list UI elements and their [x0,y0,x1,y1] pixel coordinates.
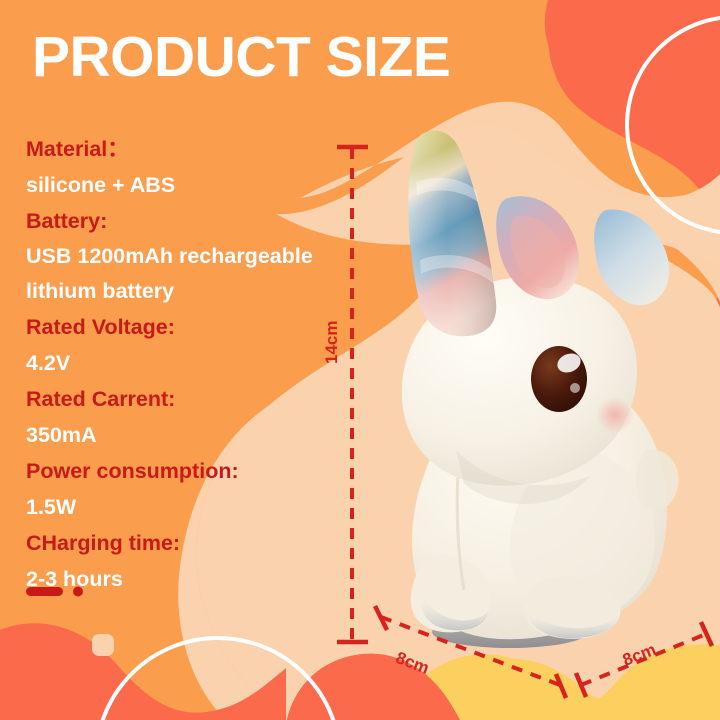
dimension-label-height: 14cm [322,321,342,364]
spec-value-battery-line1: USB 1200mAh rechargeable [26,239,356,274]
decor-dot [73,587,83,597]
product-horn-shading [408,131,496,337]
decorative-dash-dot [26,583,96,599]
spec-value-material: silicone + ABS [26,167,356,203]
spec-label-current: Rated Carrent: [26,381,356,417]
spec-value-voltage: 4.2V [26,345,356,381]
spec-value-battery-line2: lithium battery [26,274,356,309]
product-eye-highlight-small [570,383,580,393]
spec-label-material: Material： [26,131,356,167]
spec-value-power: 1.5W [26,489,356,525]
spec-label-charging: CHarging time: [26,525,356,561]
spec-label-power: Power consumption: [26,453,356,489]
rounded-square-decor-bottom [92,634,114,656]
product-ear-right [594,209,669,305]
spec-value-current: 350mA [26,417,356,453]
poster-canvas: PRODUCT SIZE Material： silicone + ABS Ba… [0,0,720,720]
decor-dash [26,587,63,596]
product-eye [531,346,587,412]
page-title: PRODUCT SIZE [32,28,450,88]
product-image-unicorn-lamp [360,120,720,680]
product-tail [636,449,679,510]
spec-list: Material： silicone + ABS Battery: USB 12… [26,131,356,597]
spec-label-voltage: Rated Voltage: [26,309,356,345]
product-cheek-blush [596,397,634,433]
spec-label-battery: Battery: [26,203,356,239]
